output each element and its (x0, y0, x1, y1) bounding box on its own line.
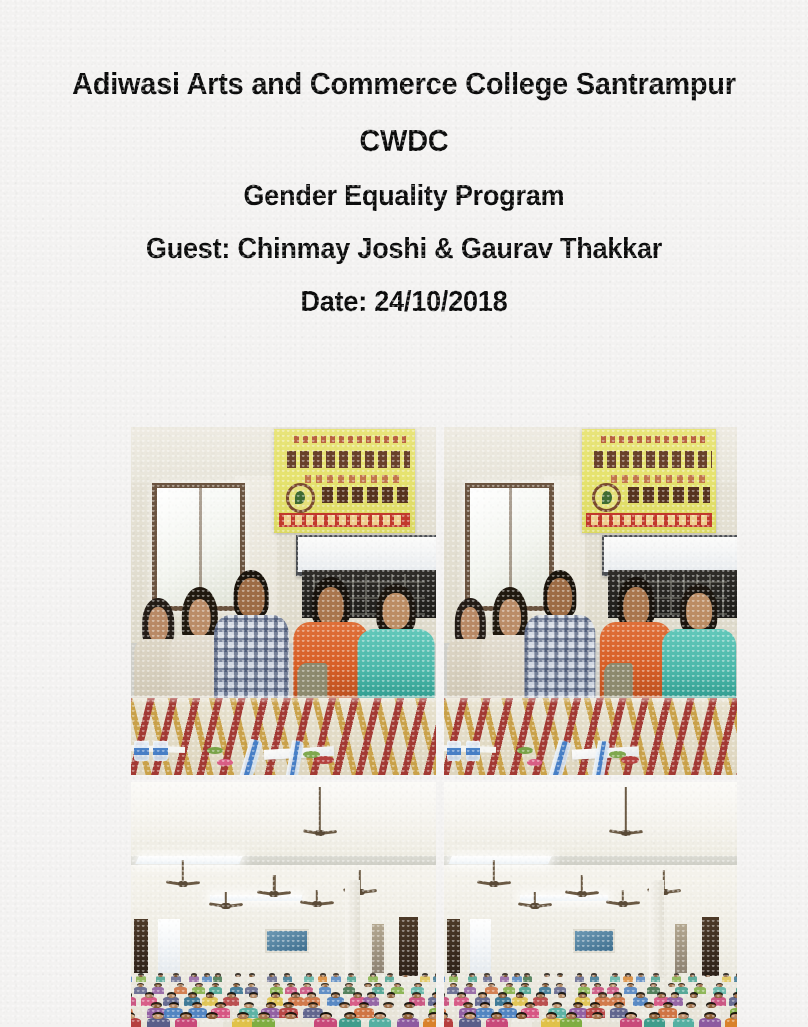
audience-person-face (270, 975, 274, 977)
audience-person-face (368, 994, 375, 998)
audience-person-face (614, 994, 621, 998)
tube-light (448, 856, 551, 864)
meeting-scene (444, 427, 737, 775)
audience-person-face (320, 975, 324, 977)
audience-person-face (545, 975, 549, 977)
audience-person-face (458, 994, 465, 998)
audience-person (279, 1018, 302, 1027)
audience-person-face (258, 1014, 268, 1019)
audience-person-face (413, 994, 420, 998)
audience-person (512, 976, 521, 981)
audience-person (644, 1018, 666, 1027)
heading-line-guests: Guest: Chinmay Joshi & Gaurav Thakkar (28, 235, 779, 264)
college-logo-icon (286, 483, 316, 513)
audience-person (347, 976, 357, 981)
audience-person (202, 976, 212, 981)
audience-person-face (626, 1014, 636, 1019)
audience-person-face (274, 984, 280, 987)
audience-person (699, 1018, 721, 1027)
audience-person (620, 1018, 642, 1027)
audience-person-face (669, 984, 675, 987)
water-bottle (466, 741, 480, 761)
audience-person (200, 1018, 223, 1027)
audience-person-face (479, 994, 486, 998)
audience-person-face (566, 1014, 576, 1019)
audience-person (354, 1008, 373, 1018)
audience-person (533, 997, 548, 1006)
audience-person-face (189, 994, 196, 998)
document-page: Adiwasi Arts and Commerce College Santra… (0, 0, 808, 1024)
water-bottle (546, 740, 571, 775)
audience-person (247, 976, 257, 981)
audience-person-face (654, 975, 658, 977)
audience-person-face (272, 994, 279, 998)
audience-person-face (467, 984, 473, 987)
audience-person-face (174, 975, 178, 977)
banner-sub-text (305, 475, 403, 483)
audience-person (555, 976, 564, 981)
audience-person (703, 976, 712, 981)
audience-person-face (492, 1014, 502, 1019)
audience-person (688, 976, 697, 981)
audience-person-face (649, 1014, 659, 1019)
audience-person-face (332, 994, 339, 998)
audience-person-face (707, 1004, 715, 1008)
audience-person (623, 976, 632, 981)
audience-person-face (724, 975, 728, 977)
audience-person (725, 1018, 737, 1027)
audience-person-face (307, 975, 311, 977)
banner-bottom-strip (279, 513, 411, 527)
audience-person (483, 976, 492, 981)
audience-person-face (645, 1004, 653, 1008)
audience-person (449, 976, 458, 981)
meeting-scene (131, 427, 436, 775)
audience-person-face (639, 975, 643, 977)
audience-person-face (613, 975, 617, 977)
audience-person (523, 976, 532, 981)
audience-person (485, 987, 497, 994)
audience-person (283, 976, 293, 981)
audience-person-face (671, 994, 678, 998)
audience-person (331, 976, 341, 981)
audience-person (156, 976, 166, 981)
audience-person (368, 976, 378, 981)
audience-person (318, 976, 328, 981)
audience-person-face (403, 975, 407, 977)
flower-decoration (315, 756, 334, 764)
flower-decoration (207, 747, 223, 754)
photo-bottom-right (444, 782, 737, 1027)
banner-top-text (601, 436, 709, 443)
audience-person-face (558, 994, 565, 998)
audience-person-face (433, 994, 436, 998)
tube-light (135, 856, 242, 864)
audience-person-face (181, 1014, 191, 1019)
audience-person-face (192, 975, 196, 977)
banner-top-text (294, 436, 406, 443)
audience-person (586, 1018, 608, 1027)
audience-person-face (216, 1004, 225, 1008)
photo-bottom-left (131, 782, 436, 1027)
audience-person (444, 976, 445, 981)
audience-person (672, 976, 681, 981)
audience-person-face (736, 975, 737, 977)
audience-person-face (207, 1014, 217, 1019)
audience-person-face (546, 1014, 556, 1019)
audience-person (147, 1018, 170, 1027)
audience-person-face (715, 994, 722, 998)
audience-person-face (503, 975, 507, 977)
audience-person (560, 1018, 582, 1027)
audience-person-face (153, 1014, 163, 1019)
audience-person-face (731, 1014, 737, 1019)
audience-person-face (610, 984, 616, 987)
audience-person (734, 976, 737, 981)
audience-person (433, 976, 436, 981)
banner-bottom-strip (586, 513, 713, 527)
audience-person (444, 1018, 453, 1027)
photo-top-right (444, 427, 737, 775)
audience-person-face (308, 994, 315, 998)
audience-person (131, 976, 132, 981)
audience-person (223, 997, 239, 1006)
audience-person-face (206, 994, 213, 998)
audience-person-face (345, 1014, 355, 1019)
audience-person (174, 987, 187, 994)
audience-person-face (516, 994, 523, 998)
workshop-banner (582, 429, 717, 533)
audience-person-face (637, 994, 644, 998)
audience-person-face (131, 1014, 135, 1019)
audience-person (267, 976, 277, 981)
photo-grid (131, 427, 737, 1027)
audience-person (314, 1018, 337, 1027)
audience-person-face (525, 975, 529, 977)
audience-person (444, 997, 449, 1006)
audience-person-face (423, 975, 427, 977)
audience-person (624, 987, 636, 994)
audience-person-face (249, 975, 253, 977)
audience-person-face (517, 1014, 527, 1019)
audience-person (636, 976, 645, 981)
banner-main-text (287, 451, 410, 469)
audience-person (541, 1018, 563, 1027)
audience-person (459, 1018, 481, 1027)
audience-person (468, 976, 477, 981)
audience-person-face (250, 994, 257, 998)
audience-person (175, 1018, 198, 1027)
audience-person-face (429, 1014, 436, 1019)
seated-person (223, 570, 281, 702)
dais-table (131, 698, 436, 775)
audience-person-face (387, 975, 391, 977)
audience-person (651, 976, 660, 981)
audience-person (420, 976, 430, 981)
audience-person-face (577, 975, 581, 977)
audience-person-face (139, 975, 143, 977)
audience-person-face (599, 994, 606, 998)
audience-person-face (581, 984, 587, 987)
audience-person-face (387, 994, 394, 998)
banner-workshop-word (628, 487, 710, 503)
audience-person-face (499, 994, 506, 998)
flower-decoration (217, 759, 233, 766)
audience-person (385, 976, 395, 981)
audience-person-face (405, 1004, 414, 1008)
audience-person-face (452, 975, 456, 977)
audience-person-face (522, 984, 528, 987)
audience-person-face (626, 975, 630, 977)
hall-ceiling (444, 782, 737, 865)
audience-person-face (304, 984, 310, 987)
workshop-banner (274, 429, 414, 533)
audience-person-face (334, 975, 338, 977)
audience-person-face (321, 1014, 331, 1019)
heading-line-cell: CWDC (28, 125, 779, 156)
audience-person-face (145, 994, 152, 998)
audience-person (486, 1018, 508, 1027)
audience-person (252, 1018, 275, 1027)
audience-person (575, 976, 584, 981)
hall-scene (131, 782, 436, 1027)
audience-person-face (705, 1014, 715, 1019)
flower-decoration (621, 756, 639, 764)
audience-person-face (558, 975, 562, 977)
water-bottle (153, 741, 168, 761)
audience-person-face (674, 975, 678, 977)
audience-person (136, 976, 146, 981)
audience-person-face (238, 1014, 248, 1019)
audience-person-face (592, 975, 596, 977)
seated-person (302, 577, 360, 702)
seated-person (670, 584, 729, 702)
audience-person (397, 1018, 420, 1027)
audience-person-face (168, 994, 175, 998)
audience-person-face (537, 994, 544, 998)
audience-person-face (158, 975, 162, 977)
audience-person-face (193, 1004, 202, 1008)
audience-person (658, 1008, 677, 1018)
audience-person (610, 976, 619, 981)
water-bottle (592, 741, 611, 775)
heading-line-date: Date: 24/10/2018 (28, 288, 779, 317)
audience-person-face (215, 975, 219, 977)
audience-person-face (706, 975, 710, 977)
audience-person-face (591, 1004, 599, 1008)
audience-person-face (485, 975, 489, 977)
dais-table (444, 698, 737, 775)
seated-person (608, 577, 664, 702)
audience-person-face (349, 975, 353, 977)
audience-person (542, 976, 551, 981)
audience-person-face (579, 994, 586, 998)
college-logo-icon (592, 483, 621, 512)
banner-main-text (594, 451, 713, 469)
audience-person (401, 976, 411, 981)
audience-person (423, 1018, 436, 1027)
audience-person (722, 976, 731, 981)
audience-person-face (435, 975, 436, 977)
heading-line-program: Gender Equality Program (28, 182, 779, 211)
hall-ceiling (131, 782, 436, 865)
audience-person (500, 976, 509, 981)
audience-person-face (678, 1014, 688, 1019)
audience-person (233, 976, 243, 981)
audience-person-face (697, 984, 703, 987)
audience-person (189, 976, 199, 981)
seated-person (366, 584, 427, 702)
hall-scene (444, 782, 737, 1027)
audience-person-face (515, 975, 519, 977)
audience-person (369, 1018, 392, 1027)
audience-person-face (557, 984, 563, 987)
audience-person-face (403, 1014, 413, 1019)
audience-person-face (734, 994, 737, 998)
audience-person (673, 1018, 695, 1027)
flower-decoration (517, 747, 532, 754)
audience-person-face (690, 994, 697, 998)
seated-person (532, 570, 588, 702)
audience-person (319, 987, 332, 994)
flower-decoration (527, 759, 542, 766)
audience-person-face (592, 1014, 602, 1019)
water-bottle (237, 739, 263, 775)
audience-person (213, 976, 223, 981)
audience-person (590, 976, 599, 981)
audience-person (171, 976, 181, 981)
audience-person-face (228, 994, 235, 998)
audience-person-face (464, 1004, 472, 1008)
water-bottle (134, 741, 149, 761)
audience-person-face (371, 975, 375, 977)
audience-person (232, 1018, 255, 1027)
audience-person (131, 1018, 141, 1027)
audience-crowd (444, 944, 737, 1027)
audience-person (304, 976, 314, 981)
water-bottle (447, 741, 461, 761)
audience-person-face (375, 1014, 385, 1019)
banner-sub-text (611, 475, 705, 483)
audience-person-face (205, 975, 209, 977)
audience-crowd (131, 944, 436, 1027)
banner-workshop-word (322, 487, 408, 503)
audience-person-face (285, 1014, 295, 1019)
audience-person-face (292, 994, 299, 998)
title-block: Adiwasi Arts and Commerce College Santra… (0, 0, 808, 317)
audience-person-face (465, 1014, 475, 1019)
photo-top-left (131, 427, 436, 775)
audience-person-face (690, 975, 694, 977)
audience-person (131, 997, 136, 1006)
audience-person-face (196, 984, 202, 987)
audience-person-face (285, 975, 289, 977)
audience-person (339, 1018, 362, 1027)
audience-person (511, 1018, 533, 1027)
heading-line-institution: Adiwasi Arts and Commerce College Santra… (28, 68, 779, 99)
audience-person-face (354, 994, 361, 998)
audience-person-face (658, 994, 665, 998)
